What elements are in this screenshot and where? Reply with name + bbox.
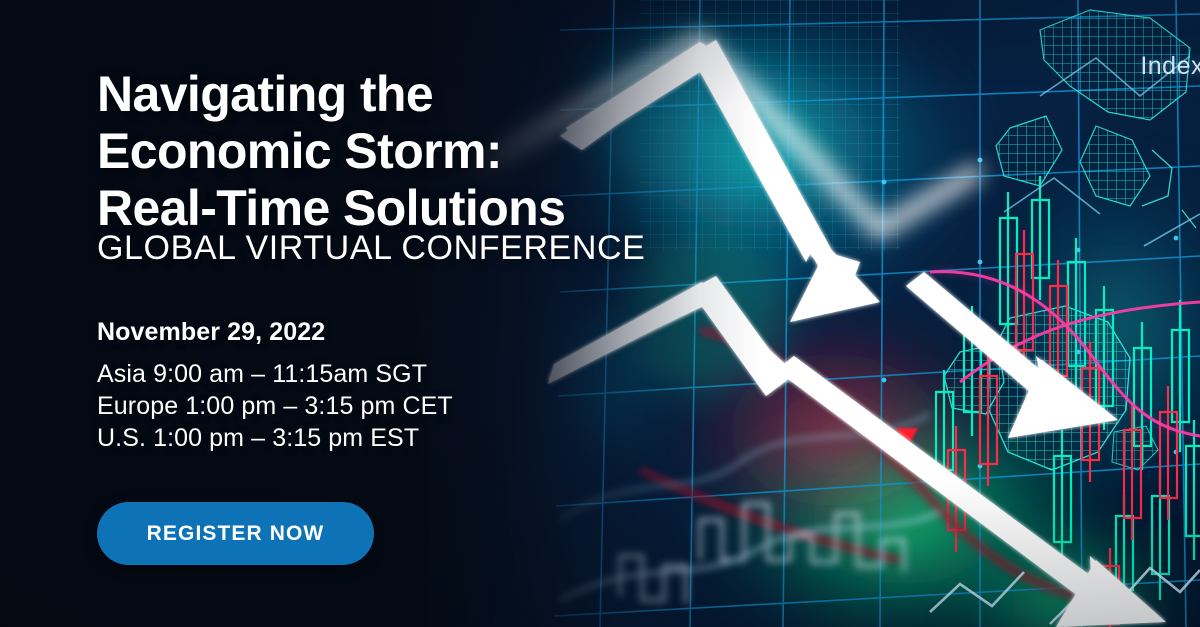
subtitle: GLOBAL VIRTUAL CONFERENCE — [97, 228, 645, 268]
conference-promo-banner: Index Navigating the Economic Storm: Rea… — [0, 0, 1200, 627]
event-times-list: Asia 9:00 am – 11:15am SGT Europe 1:00 p… — [97, 358, 453, 454]
event-time-us: U.S. 1:00 pm – 3:15 pm EST — [97, 422, 453, 454]
event-time-europe: Europe 1:00 pm – 3:15 pm CET — [97, 390, 453, 422]
index-label: Index — [1140, 52, 1200, 81]
register-now-button[interactable]: REGISTER NOW — [97, 502, 374, 565]
page-title: Navigating the Economic Storm: Real-Time… — [97, 66, 565, 237]
event-time-asia: Asia 9:00 am – 11:15am SGT — [97, 358, 453, 390]
banner-content: Navigating the Economic Storm: Real-Time… — [97, 0, 717, 627]
event-date: November 29, 2022 — [97, 316, 325, 348]
